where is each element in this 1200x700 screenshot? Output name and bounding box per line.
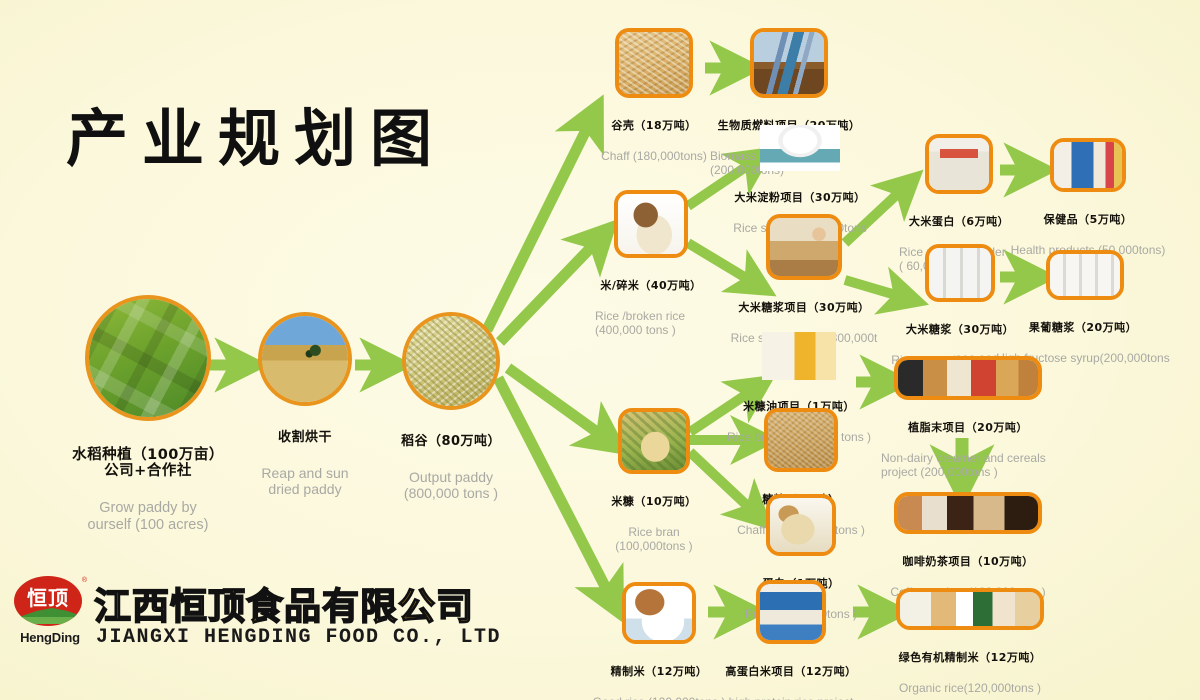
node-label-en: Non-dairy creamer and cereals project (2… (879, 452, 1057, 479)
node-reap-dry[interactable]: 收割烘干 Reap and sun dried paddy (258, 312, 352, 516)
branding-block: 恒顶 ® HengDing 江西恒顶食品有限公司 JIANGXI HENGDIN… (8, 576, 508, 654)
biomass-plant-photo (750, 28, 828, 98)
paddy-grain-photo (402, 312, 500, 410)
node-label-zh: 大米糖浆项目（30万吨） (718, 302, 890, 314)
protein-bag-photo (925, 134, 993, 194)
node-label-zh: 保健品（5万吨） (1006, 214, 1170, 226)
node-output-paddy[interactable]: 稻谷（80万吨） Output paddy (800,000 tons ) (402, 312, 500, 520)
node-rice-broken-rice[interactable]: 米/碎米（40万吨） Rice /broken rice (400,000 to… (614, 190, 688, 355)
logo-en-text: HengDing (8, 630, 92, 645)
node-label-en: Output paddy (800,000 tons ) (381, 470, 521, 501)
node-label-en: Chaff (180,000tons) (589, 150, 719, 163)
company-name-zh: 江西恒顶食品有限公司 (94, 576, 474, 630)
high-protein-can-photo (756, 580, 826, 644)
node-label-zh: 米糠（10万吨） (595, 496, 713, 508)
node-label-zh: 高蛋白米项目（12万吨） (709, 666, 873, 678)
creamer-cereal-collage-photo (894, 356, 1042, 400)
node-label-en: high protein rice project (120,000tons ) (709, 696, 873, 700)
rice-bran-photo (618, 408, 690, 474)
node-label-en: Organic rice(120,000tons ) (882, 682, 1058, 695)
fructose-drums-photo (1046, 250, 1124, 300)
node-label-zh: 稻谷（80万吨） (381, 435, 521, 450)
node-label-zh: 植脂末项目（20万吨） (879, 422, 1057, 434)
node-high-protein-rice[interactable]: 高蛋白米项目（12万吨） high protein rice project (… (756, 580, 826, 700)
coffee-collage-photo (894, 492, 1042, 534)
organic-rice-collage-photo (896, 588, 1044, 630)
bran-oil-bottle-photo (762, 332, 836, 380)
company-name-en: JIANGXI HENGDING FOOD CO., LTD (96, 626, 501, 649)
health-products-photo (1050, 138, 1126, 192)
hengding-logo-icon: 恒顶 ® (10, 576, 88, 632)
node-label-zh: 大米淀粉项目（30万吨） (718, 192, 882, 204)
paddy-field-photo (85, 295, 211, 421)
chaff-meal-photo (764, 408, 838, 472)
node-grow-paddy[interactable]: 水稻种植（100万亩） 公司+合作社 Grow paddy by ourself… (85, 295, 211, 551)
node-high-fructose-syrup[interactable]: 果葡糖浆（20万吨） High fructose syrup(200,000to… (1046, 250, 1124, 383)
node-good-rice[interactable]: 精制米（12万吨） Good rice (120,000tons ) (622, 582, 696, 700)
node-label-en: Rice /broken rice (400,000 tons ) (591, 310, 711, 337)
node-label-zh: 米/碎米（40万吨） (591, 280, 711, 292)
harvester-photo (258, 312, 352, 406)
node-label-zh: 咖啡奶茶项目（10万吨） (880, 556, 1056, 568)
rice-sack-photo (614, 190, 688, 258)
node-chaff[interactable]: 谷壳（18万吨） Chaff (180,000tons) (615, 28, 693, 181)
node-label-zh: 水稻种植（100万亩） 公司+合作社 (68, 447, 228, 479)
node-label-en: Rice bran (100,000tons ) (595, 526, 713, 553)
node-label-zh: 果葡糖浆（20万吨） (994, 322, 1172, 334)
node-label-zh: 绿色有机精制米（12万吨） (882, 652, 1058, 664)
good-rice-photo (622, 582, 696, 644)
chaff-photo (615, 28, 693, 98)
node-label-en: Reap and sun dried paddy (240, 466, 370, 497)
node-rice-bran[interactable]: 米糠（10万吨） Rice bran (100,000tons ) (618, 408, 690, 571)
node-label-zh: 收割烘干 (240, 431, 370, 446)
node-label-zh: 谷壳（18万吨） (589, 120, 719, 132)
node-non-dairy-creamer[interactable]: 植脂末项目（20万吨） Non-dairy creamer and cereal… (894, 356, 1042, 497)
starch-bowl-photo (760, 125, 840, 171)
node-label-zh: 大米蛋白（6万吨） (896, 216, 1022, 228)
logo-zh-text: 恒顶 (14, 582, 82, 611)
syrup-eggs-photo (766, 214, 842, 280)
node-label-en: Grow paddy by ourself (100 acres) (68, 500, 228, 532)
registered-mark-icon: ® (82, 577, 87, 584)
node-organic-rice[interactable]: 绿色有机精制米（12万吨） Organic rice(120,000tons ) (896, 588, 1044, 700)
syrup-drums-photo (925, 244, 995, 302)
arrow-paddy-to-rice (500, 238, 600, 342)
diagram-canvas: 产业规划图 (0, 0, 1200, 700)
protein-powder-photo (766, 494, 836, 556)
